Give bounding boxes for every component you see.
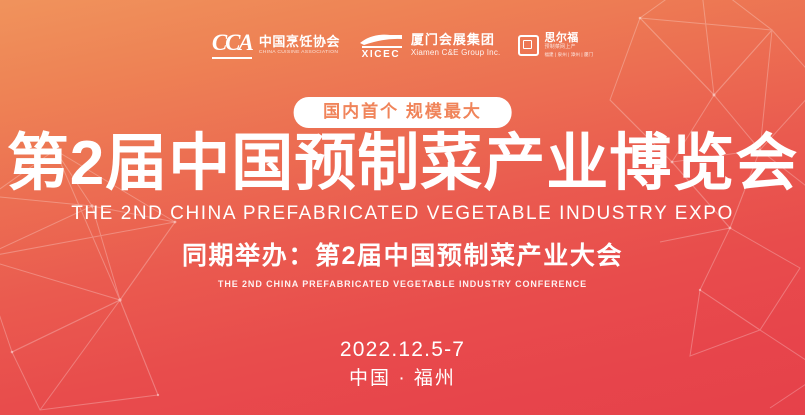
event-location: 中国 · 福州	[0, 368, 805, 391]
cca-logo: CCA 中国烹饪协会 CHINA CUISINE ASSOCIATION	[212, 25, 340, 65]
xicec-logo-cn-name: 厦门会展集团	[411, 33, 501, 48]
xicec-logo-en-name: Xiamen C&E Group Inc.	[411, 48, 501, 58]
sponsor-logo-cn-name: 思尔福	[544, 32, 593, 44]
xicec-swoosh-icon	[358, 31, 404, 48]
page-title-english: THE 2ND CHINA PREFABRICATED VEGETABLE IN…	[0, 203, 805, 225]
sponsor-logo-text: 思尔福 预制菜网上产 福建 | 泉州 | 漳州 | 厦门	[544, 32, 593, 57]
logo-divider-1	[340, 45, 358, 46]
xicec-logo-mark: XICEC	[358, 31, 404, 60]
logo-divider-2	[500, 45, 518, 46]
cca-logo-mark: CCA	[212, 31, 252, 59]
page-title: 第2届中国预制菜产业博览会	[0, 131, 805, 196]
highlight-badge: 国内首个 规模最大	[293, 97, 512, 128]
xicec-logo: XICEC 厦门会展集团 Xiamen C&E Group Inc.	[358, 25, 501, 65]
expo-poster: CCA 中国烹饪协会 CHINA CUISINE ASSOCIATION XIC…	[0, 0, 805, 415]
xicec-logo-text: 厦门会展集团 Xiamen C&E Group Inc.	[411, 33, 501, 58]
xicec-logo-mark-text: XICEC	[362, 50, 401, 60]
cca-logo-text: 中国烹饪协会 CHINA CUISINE ASSOCIATION	[259, 35, 340, 55]
sponsor-logo-sub-name: 预制菜网上产	[544, 44, 593, 51]
sponsor-logo-mark-icon	[518, 35, 539, 56]
sponsor-logo: 思尔福 预制菜网上产 福建 | 泉州 | 漳州 | 厦门	[518, 25, 593, 65]
conference-subtitle: 同期举办：第2届中国预制菜产业大会	[0, 241, 805, 271]
partner-logo-strip: CCA 中国烹饪协会 CHINA CUISINE ASSOCIATION XIC…	[0, 24, 805, 66]
cca-logo-en-name: CHINA CUISINE ASSOCIATION	[259, 49, 340, 55]
cca-logo-cn-name: 中国烹饪协会	[259, 35, 340, 49]
conference-subtitle-english: THE 2ND CHINA PREFABRICATED VEGETABLE IN…	[0, 279, 805, 290]
sponsor-logo-tag: 福建 | 泉州 | 漳州 | 厦门	[544, 52, 593, 58]
event-date: 2022.12.5-7	[0, 337, 805, 362]
